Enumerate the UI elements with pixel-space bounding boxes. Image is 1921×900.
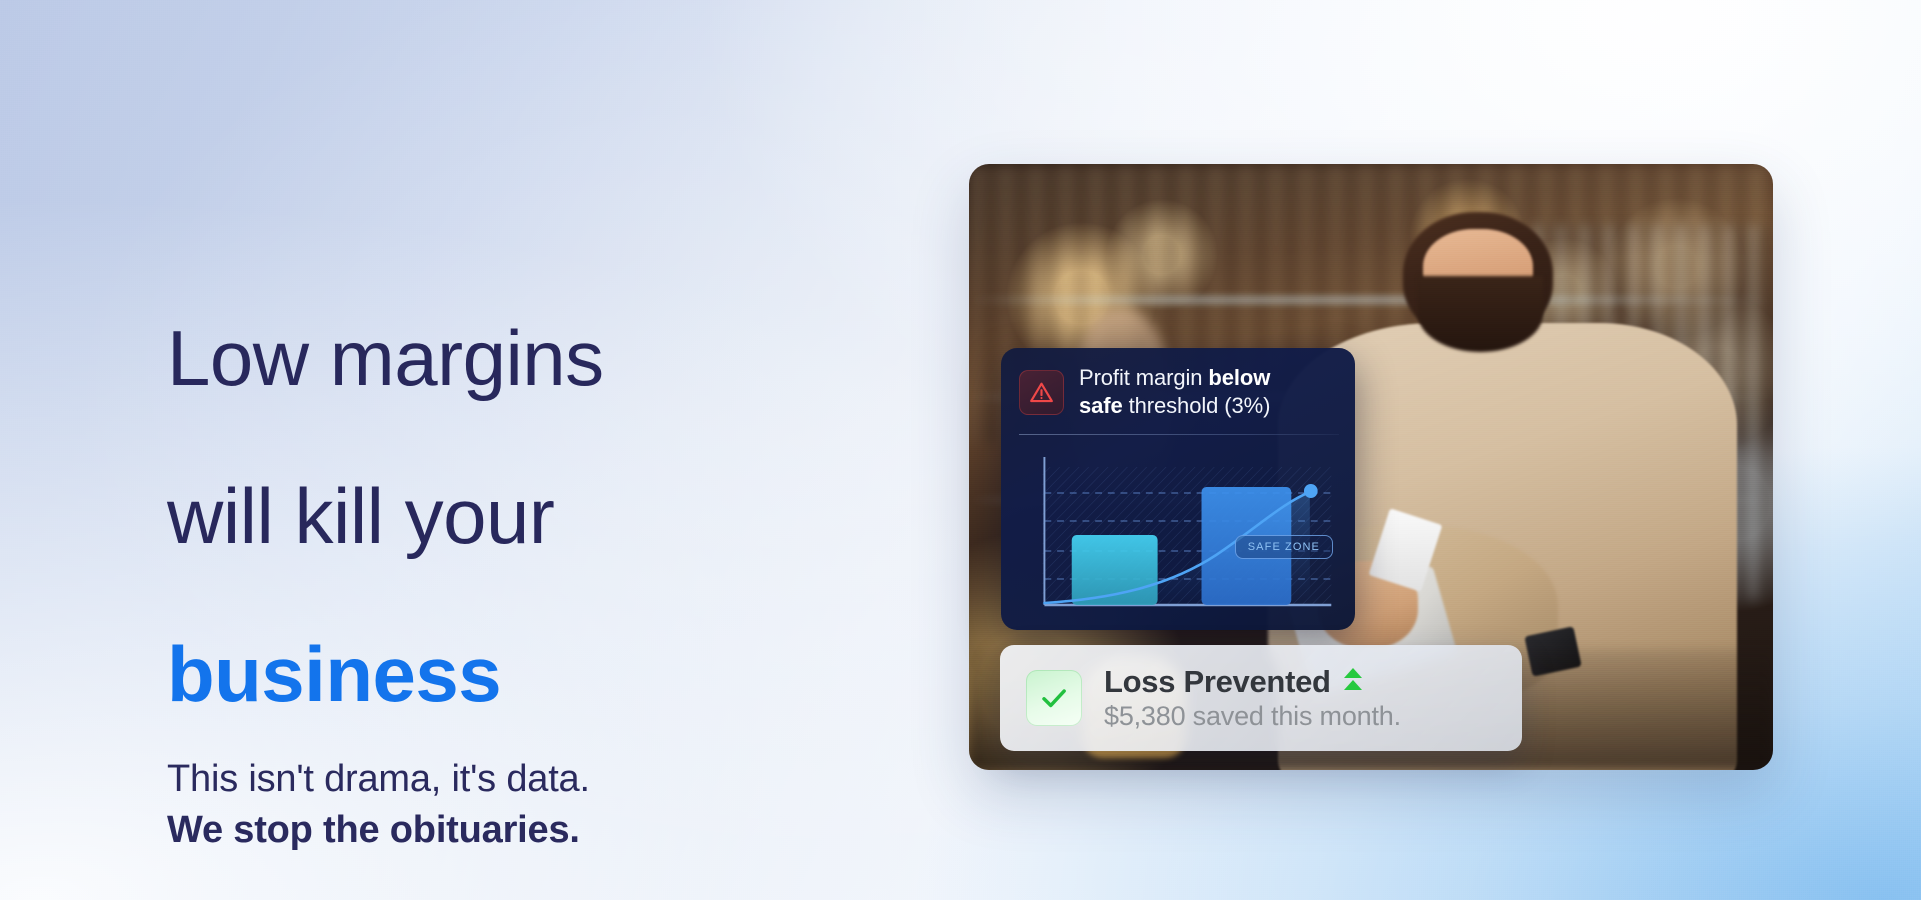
- profit-margin-alert-card[interactable]: Profit margin below safe threshold (3%): [1001, 348, 1355, 630]
- loss-card-texts: Loss Prevented $5,380 saved this month.: [1104, 664, 1401, 732]
- headline-line-2: will kill your: [167, 472, 554, 560]
- warning-triangle-icon: [1019, 370, 1064, 415]
- hero-subtitle: This isn't drama, it's data. We stop the…: [167, 754, 887, 856]
- alert-divider: [1019, 434, 1339, 435]
- headline-line-1: Low margins: [167, 314, 604, 402]
- headline-accent-word: business: [167, 630, 501, 718]
- alert-header: Profit margin below safe threshold (3%): [1001, 348, 1355, 420]
- alert-text-part-1: Profit margin: [1079, 365, 1208, 390]
- subtitle-line-1: This isn't drama, it's data.: [167, 758, 590, 800]
- safe-zone-badge: SAFE ZONE: [1235, 535, 1333, 559]
- loss-card-title: Loss Prevented: [1104, 664, 1331, 700]
- alert-text-bold-1: below: [1208, 365, 1270, 390]
- loss-prevented-card[interactable]: Loss Prevented $5,380 saved this month.: [1000, 645, 1522, 751]
- alert-text-bold-2: safe: [1079, 393, 1123, 418]
- hero-copy: Low margins will kill your business This…: [167, 240, 887, 856]
- loss-card-title-row: Loss Prevented: [1104, 664, 1401, 700]
- chart-svg: [1021, 447, 1343, 619]
- page-title: Low margins will kill your business: [167, 240, 887, 714]
- check-icon: [1026, 670, 1082, 726]
- loss-card-subtitle: $5,380 saved this month.: [1104, 701, 1401, 732]
- chart-curve-endpoint: [1304, 484, 1318, 498]
- subtitle-line-2: We stop the obituaries.: [167, 809, 580, 851]
- profit-margin-chart: SAFE ZONE: [1021, 447, 1343, 619]
- double-chevron-up-icon: [1343, 667, 1363, 698]
- alert-message: Profit margin below safe threshold (3%): [1079, 364, 1270, 420]
- alert-text-part-2: threshold (3%): [1123, 393, 1271, 418]
